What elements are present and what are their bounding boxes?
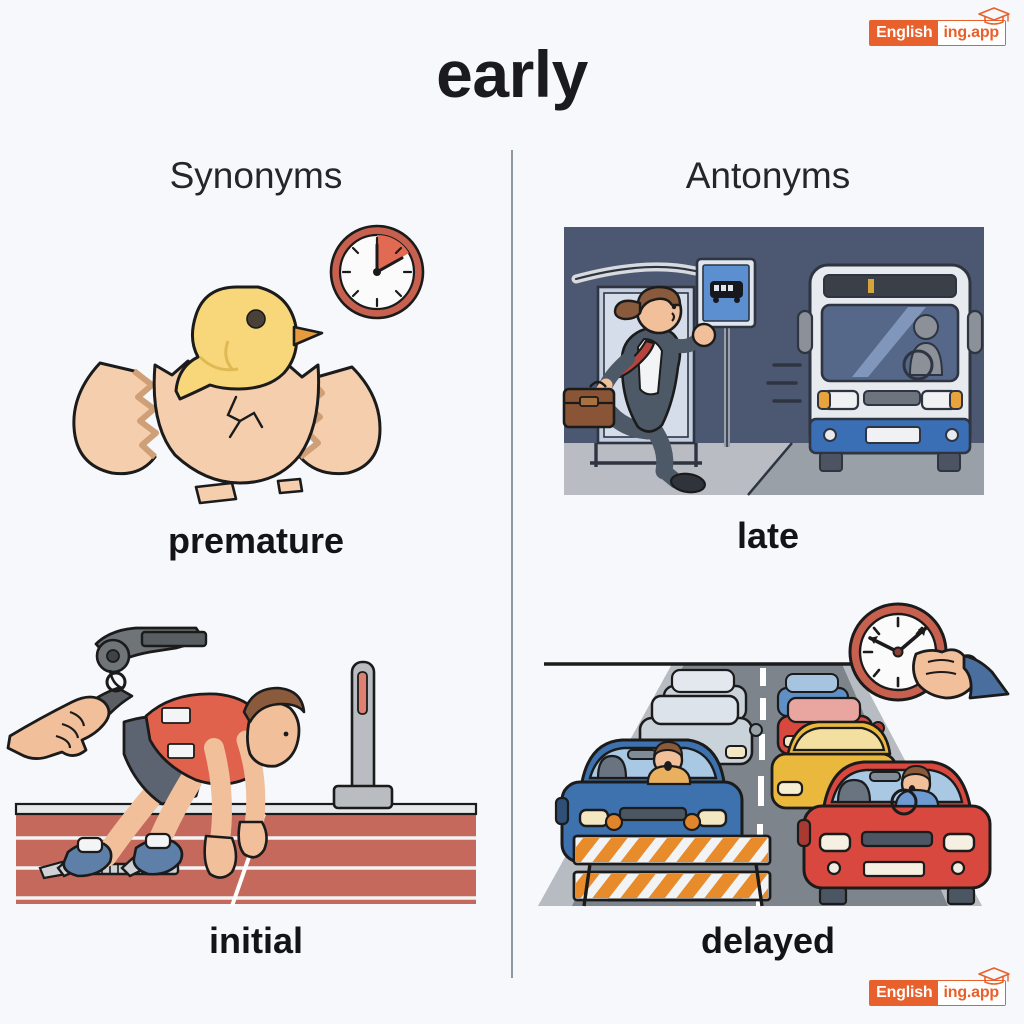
sprinter-illustration — [0, 600, 512, 910]
caption-synonym-1: premature — [0, 520, 512, 562]
starting-post — [334, 662, 392, 808]
graduation-cap-icon — [977, 6, 1011, 26]
brand-logo-bottom[interactable]: English ing.app — [869, 980, 1006, 1006]
caption-synonym-2: initial — [0, 920, 512, 962]
cell-antonym-2[interactable]: delayed — [512, 600, 1024, 1000]
caption-antonym-2: delayed — [512, 920, 1024, 962]
graduation-cap-icon — [977, 966, 1011, 986]
caption-antonym-1: late — [512, 515, 1024, 557]
logo-left-text: English — [870, 981, 937, 1005]
page-title: early — [0, 36, 1024, 112]
traffic-jam-illustration — [512, 600, 1024, 910]
synonyms-header: Synonyms — [0, 155, 512, 197]
cell-synonym-2[interactable]: initial — [0, 600, 512, 1000]
clock-with-hand — [850, 604, 1008, 700]
logo-box: English ing.app — [869, 980, 1006, 1006]
hatching-chick-with-clock-illustration — [0, 215, 512, 515]
cell-synonym-1[interactable]: premature — [0, 215, 512, 595]
antonyms-header: Antonyms — [512, 155, 1024, 197]
clock-icon — [331, 226, 423, 318]
cell-antonym-1[interactable]: late — [512, 215, 1024, 595]
vocabulary-card: English ing.app early Synonyms Antonyms — [0, 0, 1024, 1024]
eggshell-left — [74, 363, 156, 474]
bus — [798, 265, 982, 471]
woman-running-for-bus-illustration — [512, 215, 1024, 515]
